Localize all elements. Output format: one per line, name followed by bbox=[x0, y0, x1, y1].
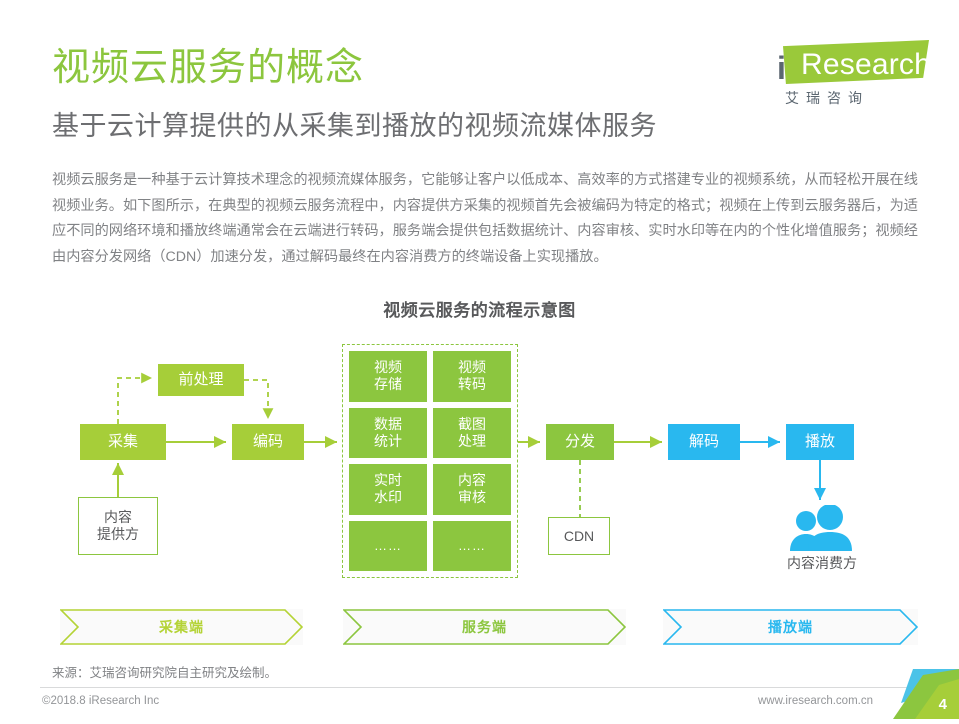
service-box-line1: 视频 bbox=[458, 359, 486, 375]
stage-banner-capture[interactable]: 采集端 bbox=[60, 609, 303, 645]
node-pre-process[interactable]: 前处理 bbox=[158, 364, 244, 396]
service-box-line1: 截图 bbox=[458, 416, 486, 432]
node-encode[interactable]: 编码 bbox=[232, 424, 304, 460]
consumers-icon bbox=[782, 505, 858, 551]
source-note: 来源：艾瑞咨询研究院自主研究及绘制。 bbox=[52, 662, 277, 681]
service-box-line2: 审核 bbox=[458, 489, 486, 505]
node-content-provider[interactable]: 内容 提供方 bbox=[78, 497, 158, 555]
service-box[interactable]: 视频存储 bbox=[349, 351, 427, 402]
slide-page: 视频云服务的概念 基于云计算提供的从采集到播放的视频流媒体服务 i Resear… bbox=[0, 0, 959, 719]
corner-decoration bbox=[893, 669, 959, 719]
service-box-line2: 统计 bbox=[374, 433, 402, 449]
service-box[interactable]: 视频转码 bbox=[433, 351, 511, 402]
service-box-line2: 水印 bbox=[374, 489, 402, 505]
service-box[interactable]: 截图处理 bbox=[433, 408, 511, 459]
service-box-line1: 内容 bbox=[458, 472, 486, 488]
service-box-line1: 视频 bbox=[374, 359, 402, 375]
service-box[interactable]: 实时水印 bbox=[349, 464, 427, 515]
node-playback[interactable]: 播放 bbox=[786, 424, 854, 460]
service-box-line1: 实时 bbox=[374, 472, 402, 488]
service-box-line2: 转码 bbox=[458, 376, 486, 392]
service-box[interactable]: 内容审核 bbox=[433, 464, 511, 515]
service-box[interactable]: 数据统计 bbox=[349, 408, 427, 459]
service-box-line2: 存储 bbox=[374, 376, 402, 392]
service-box-more[interactable]: …… bbox=[433, 521, 511, 572]
node-cdn[interactable]: CDN bbox=[548, 517, 610, 555]
copyright-text: ©2018.8 iResearch Inc bbox=[42, 695, 159, 707]
stage-banner-label: 播放端 bbox=[768, 617, 813, 637]
node-decode[interactable]: 解码 bbox=[668, 424, 740, 460]
node-capture[interactable]: 采集 bbox=[80, 424, 166, 460]
page-number: 4 bbox=[939, 696, 947, 713]
service-box-more[interactable]: …… bbox=[349, 521, 427, 572]
stage-banner-playback[interactable]: 播放端 bbox=[663, 609, 918, 645]
website-link[interactable]: www.iresearch.com.cn bbox=[758, 695, 873, 707]
flow-diagram: 前处理 采集 编码 分发 解码 播放 内容 提供方 CDN 视频存储 视频转码 … bbox=[0, 0, 959, 719]
service-box-line1: 数据 bbox=[374, 416, 402, 432]
node-distribute[interactable]: 分发 bbox=[546, 424, 614, 460]
stage-banner-label: 服务端 bbox=[462, 617, 507, 637]
provider-line-1: 内容 bbox=[104, 509, 132, 525]
stage-banner-service[interactable]: 服务端 bbox=[343, 609, 626, 645]
service-box-line2: 处理 bbox=[458, 433, 486, 449]
consumer-label: 内容消费方 bbox=[742, 553, 902, 573]
service-box-grid: 视频存储 视频转码 数据统计 截图处理 实时水印 内容审核 …… …… bbox=[349, 351, 511, 571]
stage-banner-label: 采集端 bbox=[159, 617, 204, 637]
provider-line-2: 提供方 bbox=[97, 526, 139, 542]
footer-divider bbox=[40, 687, 919, 688]
